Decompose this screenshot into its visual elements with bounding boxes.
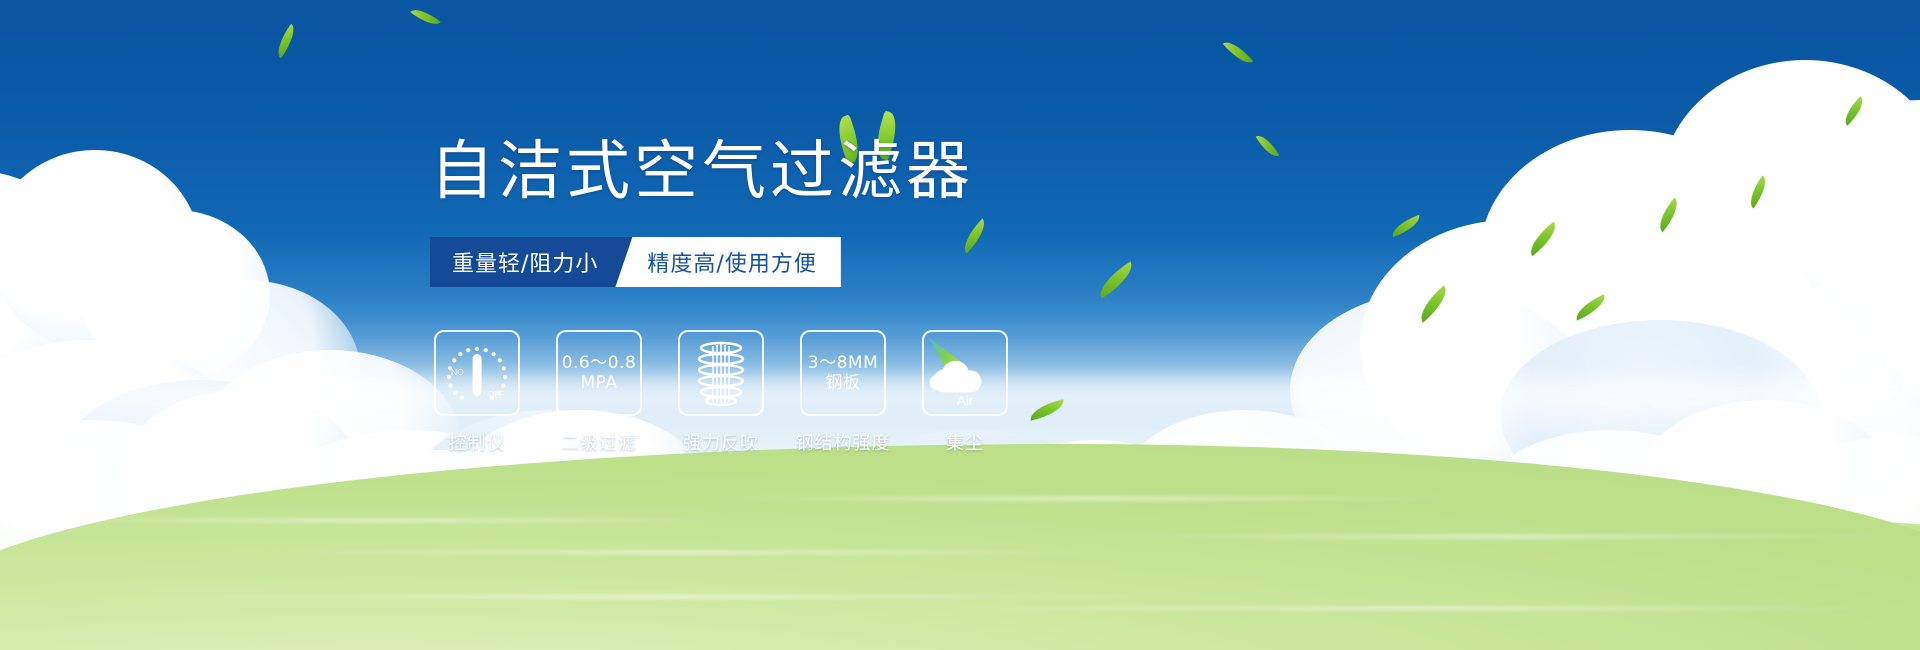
subtitle-tabs: 重量轻/阻力小 精度高/使用方便	[430, 237, 841, 287]
feature-item-dust-collection[interactable]: Air 集尘	[922, 330, 1008, 455]
feature-label: 钢结构强度	[796, 429, 891, 455]
feature-label: 控制仪	[449, 429, 506, 455]
pressure-value: 0.6～0.8 MPA	[562, 353, 637, 393]
plate-text-icon: 3～8MM 钢板	[800, 330, 886, 416]
feature-label: 集尘	[946, 429, 984, 455]
page-title: 自洁式空气过滤器	[430, 140, 974, 204]
svg-text:OFF: OFF	[488, 390, 504, 399]
feature-label: 二级过滤	[561, 429, 637, 455]
feature-list: NO OFF 控制仪 0.6～0.8 MPA 二级过滤	[434, 330, 1008, 455]
cloud-air-icon: Air	[922, 330, 1008, 416]
banner-content: 自洁式空气过滤器 重量轻/阻力小 精度高/使用方便	[0, 0, 1920, 650]
feature-item-back-blow[interactable]: 强力反吹	[678, 330, 764, 455]
svg-text:Air: Air	[957, 393, 974, 408]
plate-value: 3～8MM 钢板	[808, 353, 878, 393]
feature-label: 强力反吹	[683, 429, 759, 455]
gauge-icon: NO OFF	[434, 330, 520, 416]
coil-icon	[678, 330, 764, 416]
tab-feature-secondary[interactable]: 精度高/使用方便	[615, 237, 840, 287]
feature-item-controller[interactable]: NO OFF 控制仪	[434, 330, 520, 455]
hero-banner: 自洁式空气过滤器 重量轻/阻力小 精度高/使用方便	[0, 0, 1920, 650]
tab-feature-primary[interactable]: 重量轻/阻力小	[430, 237, 632, 287]
feature-item-two-stage-filter[interactable]: 0.6～0.8 MPA 二级过滤	[556, 330, 642, 455]
feature-item-steel-strength[interactable]: 3～8MM 钢板 钢结构强度	[800, 330, 886, 455]
svg-text:NO: NO	[451, 367, 464, 377]
pressure-text-icon: 0.6～0.8 MPA	[556, 330, 642, 416]
